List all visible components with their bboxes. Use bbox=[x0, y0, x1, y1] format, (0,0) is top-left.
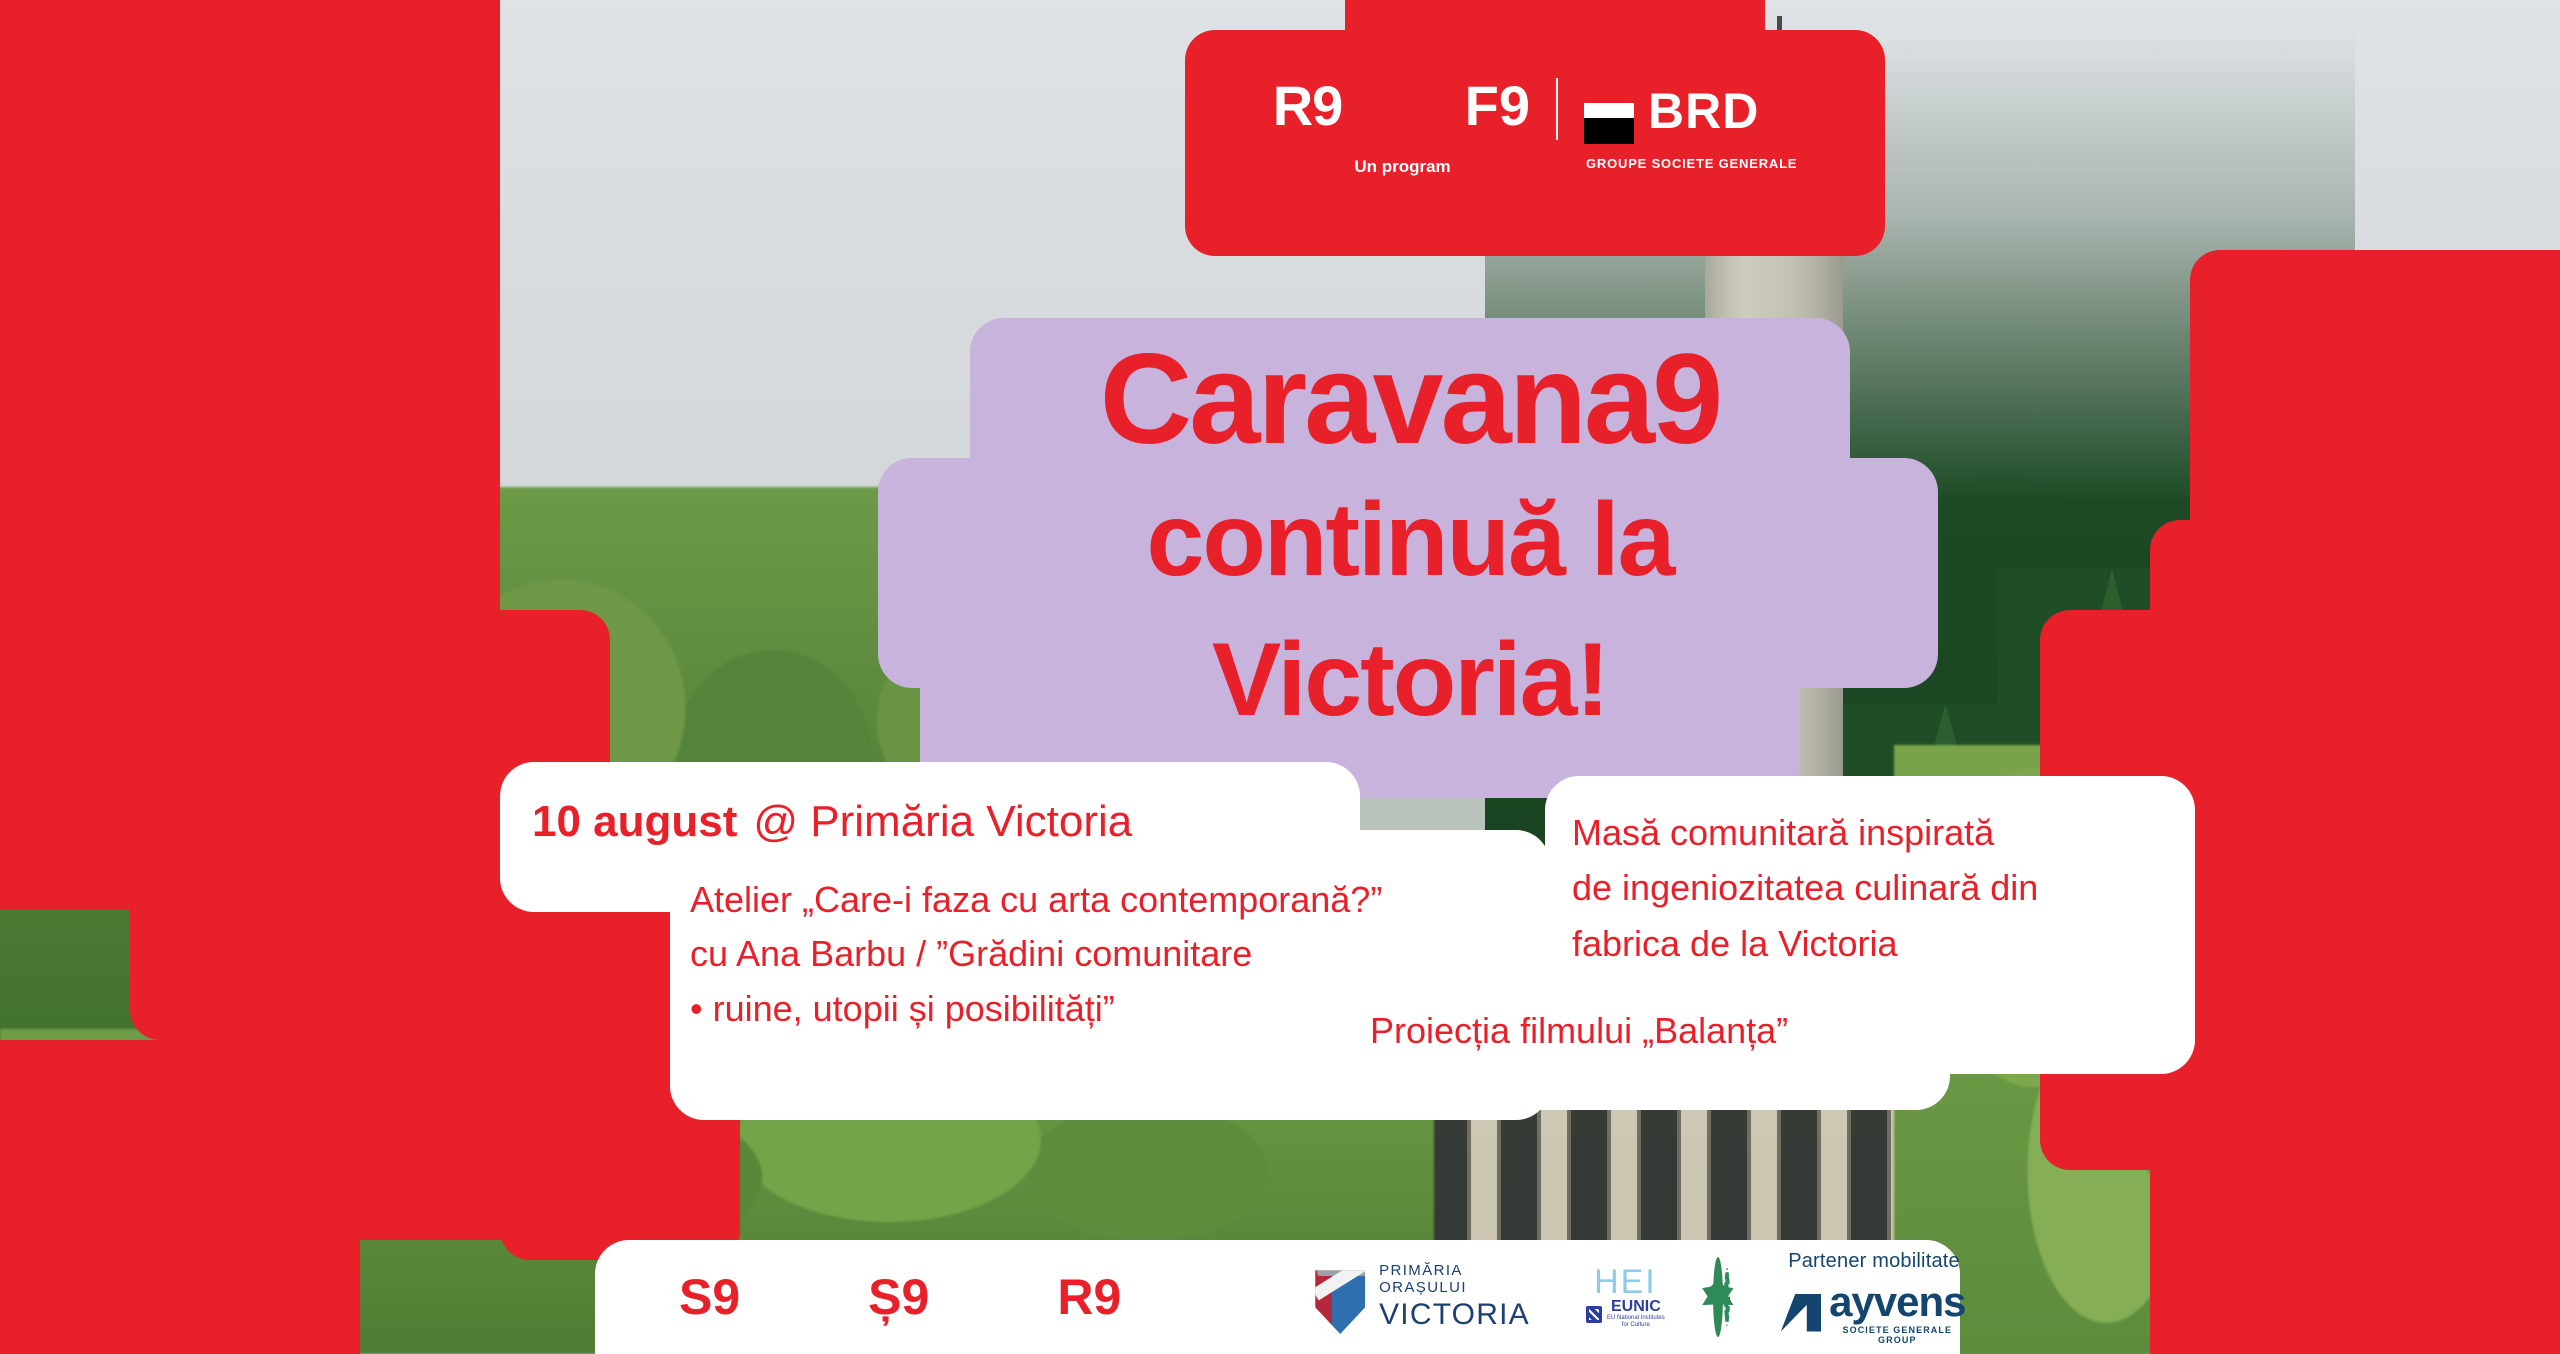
workshop-line-2: cu Ana Barbu / ”Grădini comunitare bbox=[690, 934, 1570, 974]
header-logo-plaque: R9 Un program F9 BRD GROUPE SOCIETE GENE… bbox=[1185, 0, 1885, 256]
ayvens-mark-icon bbox=[1781, 1294, 1822, 1332]
red-block-right-5 bbox=[2260, 1000, 2560, 1354]
event-date-line: 10 august@ Primăria Victoria bbox=[532, 800, 1132, 844]
f9-logo: F9 bbox=[1465, 78, 1530, 134]
green-seal-logo bbox=[1713, 1257, 1723, 1337]
workshop-line-1: Atelier „Care-i faza cu arta contemporan… bbox=[690, 880, 1570, 920]
community-meal-description: Masă comunitară inspirată de ingeniozita… bbox=[1572, 812, 2212, 978]
brd-group-label: GROUPE SOCIETE GENERALE bbox=[1586, 156, 1797, 171]
r9-footer-logo: R9 bbox=[1057, 1272, 1121, 1322]
meal-line-1: Masă comunitară inspirată bbox=[1572, 812, 2212, 853]
partner-footer-bar: S9 Ș9 R9 CLUBUL VICTORIA PRIMĂRIA ORAȘUL… bbox=[595, 1240, 1960, 1354]
s9-logo: S9 bbox=[679, 1272, 740, 1322]
ivy-leaf-icon bbox=[1701, 1280, 1735, 1314]
primaria-line-2: VICTORIA bbox=[1379, 1298, 1536, 1331]
primaria-victoria-logo: PRIMĂRIA ORAȘULUI VICTORIA bbox=[1315, 1260, 1536, 1334]
hei-eunic-logo: HEI EUNIC EU National Institutes for Cul… bbox=[1586, 1265, 1665, 1328]
eunic-name: EUNIC bbox=[1607, 1299, 1665, 1315]
red-block-left-7 bbox=[0, 1040, 360, 1354]
eunic-subtitle: EU National Institutes for Culture bbox=[1607, 1315, 1665, 1328]
coat-of-arms-icon bbox=[1315, 1260, 1365, 1334]
meal-line-2: de ingeniozitatea culinară din bbox=[1572, 867, 2212, 908]
mobility-partner-label: Partener mobilitate bbox=[1781, 1250, 1967, 1273]
primaria-line-1: PRIMĂRIA ORAȘULUI bbox=[1379, 1263, 1536, 1296]
shield-band bbox=[1312, 1259, 1368, 1301]
ayvens-mobility-partner: Partener mobilitate ayvens SOCIETE GENER… bbox=[1781, 1250, 1967, 1345]
eu-flag-icon bbox=[1586, 1306, 1602, 1323]
event-poster: R9 Un program F9 BRD GROUPE SOCIETE GENE… bbox=[0, 0, 2560, 1354]
film-screening-line: Proiecția filmului „Balanța” bbox=[1370, 1010, 1788, 1052]
event-date: 10 august bbox=[532, 797, 737, 846]
brd-name: BRD bbox=[1648, 86, 1759, 136]
logo-divider bbox=[1556, 78, 1558, 140]
title-line-1: Caravana9 bbox=[860, 336, 1960, 464]
meal-line-3: fabrica de la Victoria bbox=[1572, 923, 2212, 964]
ayvens-group: SOCIETE GENERALE GROUP bbox=[1827, 1325, 1967, 1345]
title-line-3: Victoria! bbox=[860, 628, 1960, 732]
ss9-logo: Ș9 bbox=[868, 1272, 929, 1322]
red-block-right-4 bbox=[2190, 250, 2560, 670]
brd-mark-icon bbox=[1584, 78, 1634, 144]
ayvens-name: ayvens bbox=[1827, 1281, 1967, 1323]
program-label: Un program bbox=[1354, 157, 1450, 177]
event-venue: @ Primăria Victoria bbox=[753, 797, 1132, 846]
title-block: Caravana9 continuă la Victoria! bbox=[860, 318, 1960, 798]
hei-mark: HEI bbox=[1594, 1263, 1657, 1301]
r9-logo: R9 bbox=[1273, 78, 1343, 134]
title-line-2: continuă la bbox=[860, 488, 1960, 592]
